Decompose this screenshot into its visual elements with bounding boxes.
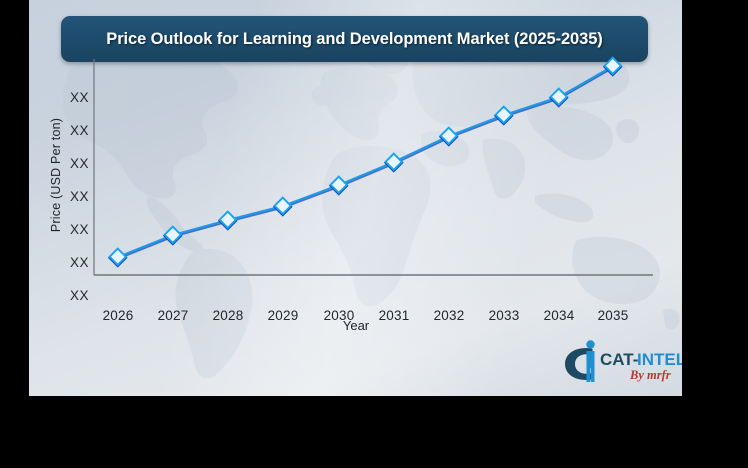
data-point-2033: [496, 107, 512, 124]
data-point-2028: [220, 212, 236, 229]
data-point-2035: [605, 58, 621, 75]
x-tick-label: 2033: [476, 308, 532, 323]
chart-card: Price Outlook for Learning and Developme…: [29, 0, 682, 396]
data-point-2029: [275, 198, 291, 215]
x-tick-label: 2034: [531, 308, 587, 323]
series-markers: [110, 58, 621, 266]
logo-byline: By mrfr: [629, 368, 671, 382]
data-point-2027: [165, 227, 181, 244]
data-point-2031: [386, 154, 402, 171]
data-point-2026: [110, 249, 126, 266]
x-axis-title: Year: [301, 318, 411, 333]
plot-area: XX XX XX XX XX XX XX 2026 2027 2028 2029…: [29, 0, 682, 396]
x-tick-label: 2035: [585, 308, 641, 323]
x-tick-label: 2032: [421, 308, 477, 323]
data-point-2032: [441, 128, 457, 145]
y-tick-label: XX: [53, 288, 89, 303]
x-tick-label: 2027: [145, 308, 201, 323]
y-axis-title: Price (USD Per ton): [49, 100, 63, 250]
y-tick-label: XX: [53, 255, 89, 270]
logo-wordmark-cat: CAT-: [600, 350, 638, 369]
logo-wordmark-intel: INTEL: [637, 350, 682, 369]
data-point-2034: [551, 89, 567, 106]
screenshot-canvas: Price Outlook for Learning and Developme…: [0, 0, 748, 468]
x-tick-label: 2028: [200, 308, 256, 323]
cat-intel-logo: CAT- INTEL By mrfr: [553, 338, 682, 386]
x-tick-label: 2026: [90, 308, 146, 323]
series-line: [118, 66, 613, 257]
logo-i-dot: [586, 340, 594, 348]
data-point-2030: [331, 177, 347, 194]
